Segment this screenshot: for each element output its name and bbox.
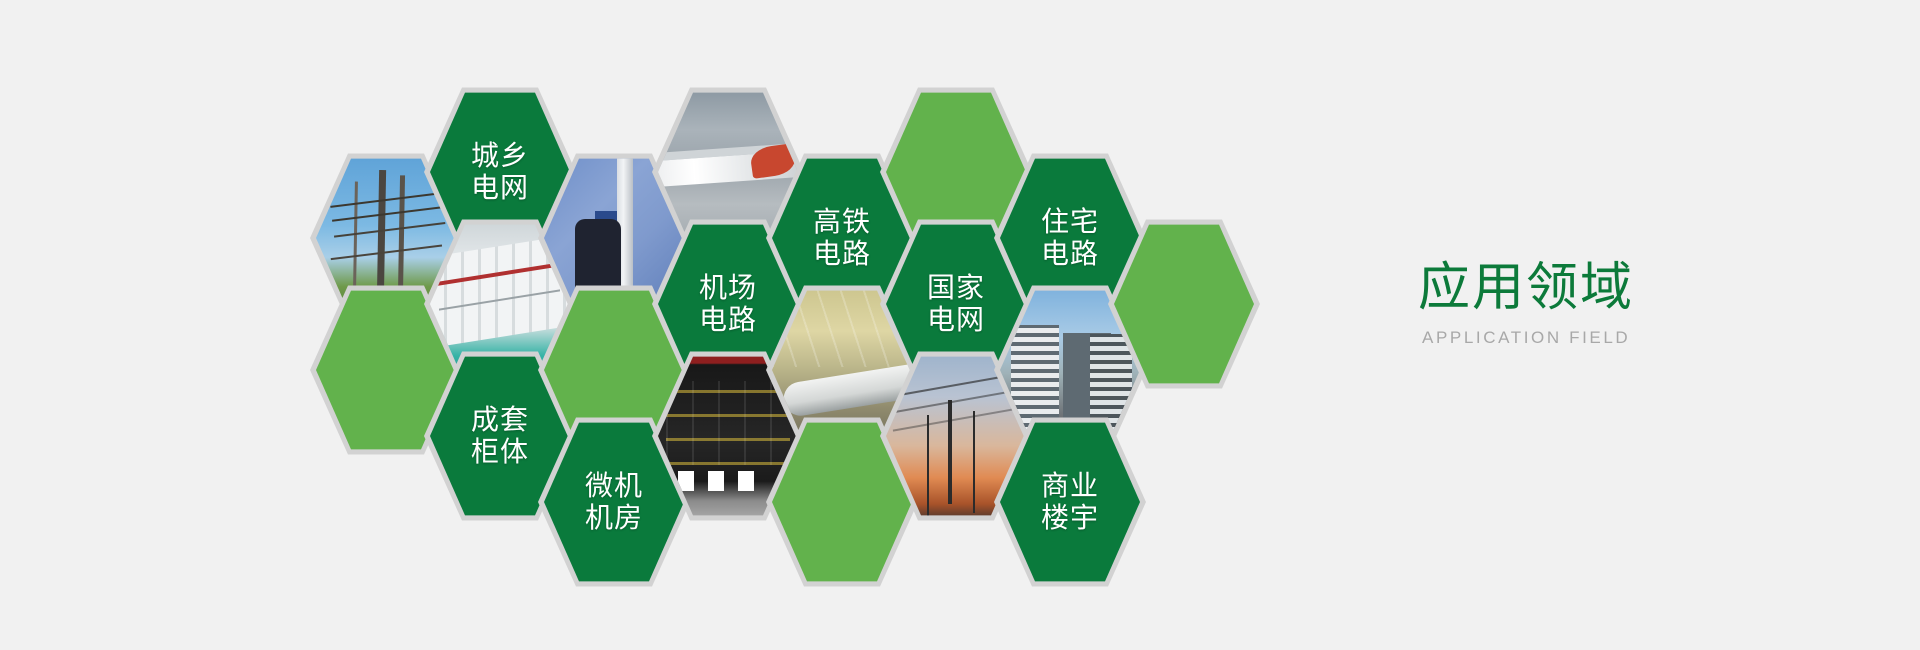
hex-label-text: 城乡 电网 xyxy=(471,140,529,205)
hex-label-text: 住宅 电路 xyxy=(1041,206,1099,271)
hex-label-text: 微机 机房 xyxy=(585,470,643,535)
hex-label-text: 商业 楼宇 xyxy=(1041,470,1099,535)
hex-label-text: 成套 柜体 xyxy=(471,404,529,469)
title-block: 应用领域 APPLICATION FIELD xyxy=(1418,262,1838,348)
page-title: 应用领域 xyxy=(1418,262,1838,314)
hex-label-text: 机场 电路 xyxy=(699,272,757,337)
page-subtitle: APPLICATION FIELD xyxy=(1422,328,1838,348)
application-field-banner: 城乡 电网 成套 柜体 微机 机房 机场 电路 xyxy=(0,0,1920,650)
hexagon-grid: 城乡 电网 成套 柜体 微机 机房 机场 电路 xyxy=(0,0,1400,650)
hex-label-text: 高铁 电路 xyxy=(813,206,871,271)
hex-label-text: 国家 电网 xyxy=(927,272,985,337)
